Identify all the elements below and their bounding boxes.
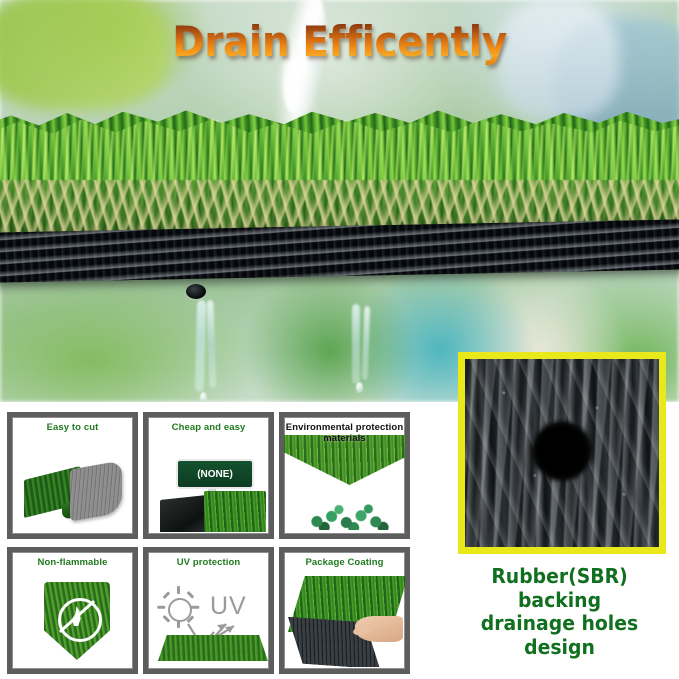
- none-sign-label: (NONE): [197, 469, 233, 480]
- feature-illustration-package-coating: [284, 570, 405, 667]
- feature-illustration-uv: UV: [148, 570, 269, 667]
- feature-label: Package Coating: [284, 557, 405, 568]
- feature-box-package-coating: Package Coating: [279, 547, 410, 674]
- feature-label: Cheap and easy: [148, 422, 269, 433]
- feature-illustration-shield: [12, 570, 133, 667]
- feature-box-easy-to-cut: Easy to cut: [7, 412, 138, 539]
- caption-line-2: drainage holes design: [447, 612, 672, 659]
- feature-label: Non-flammable: [12, 557, 133, 568]
- feature-box-non-flammable: Non-flammable: [7, 547, 138, 674]
- feature-label: Easy to cut: [12, 422, 133, 433]
- feature-box-uv-protection: UV protection UV: [143, 547, 274, 674]
- drainage-hole: [534, 423, 590, 479]
- feature-box-cheap-and-easy: Cheap and easy (NONE): [143, 412, 274, 539]
- water-droplet: [356, 382, 363, 393]
- resin-pellets-pile: [304, 496, 396, 530]
- feature-grid: Easy to cut Cheap and easy (NONE): [7, 412, 427, 674]
- rubber-backing-panel: [458, 352, 666, 554]
- turf-cross-section: [0, 108, 679, 303]
- hero-photo: Drain Efficently: [0, 0, 679, 402]
- feature-label: Environmental protection materials: [284, 422, 405, 444]
- drainage-hole-grommet: [186, 284, 206, 299]
- grey-backing-roll-shape: [70, 460, 122, 521]
- green-turf-roll-shape: [204, 491, 266, 532]
- feature-label: UV protection: [148, 557, 269, 568]
- none-sign: (NONE): [176, 459, 254, 489]
- page-title: Drain Efficently: [24, 17, 655, 66]
- feature-illustration-rolled-mat: [12, 435, 133, 532]
- feature-illustration-none-sign: (NONE): [148, 435, 269, 532]
- draining-water-stream: [352, 304, 360, 384]
- rubber-panel-caption: Rubber(SBR) backing drainage holes desig…: [447, 565, 672, 659]
- water-droplet: [200, 392, 207, 402]
- product-feature-graphic: Drain Efficently Easy to cut: [0, 0, 679, 679]
- caption-line-1: Rubber(SBR) backing: [447, 565, 672, 612]
- feature-box-environmental-protection-materials: Environmental protection materials: [279, 412, 410, 539]
- feature-illustration-pellets: [284, 435, 405, 532]
- turf-slab-shape: [158, 635, 268, 661]
